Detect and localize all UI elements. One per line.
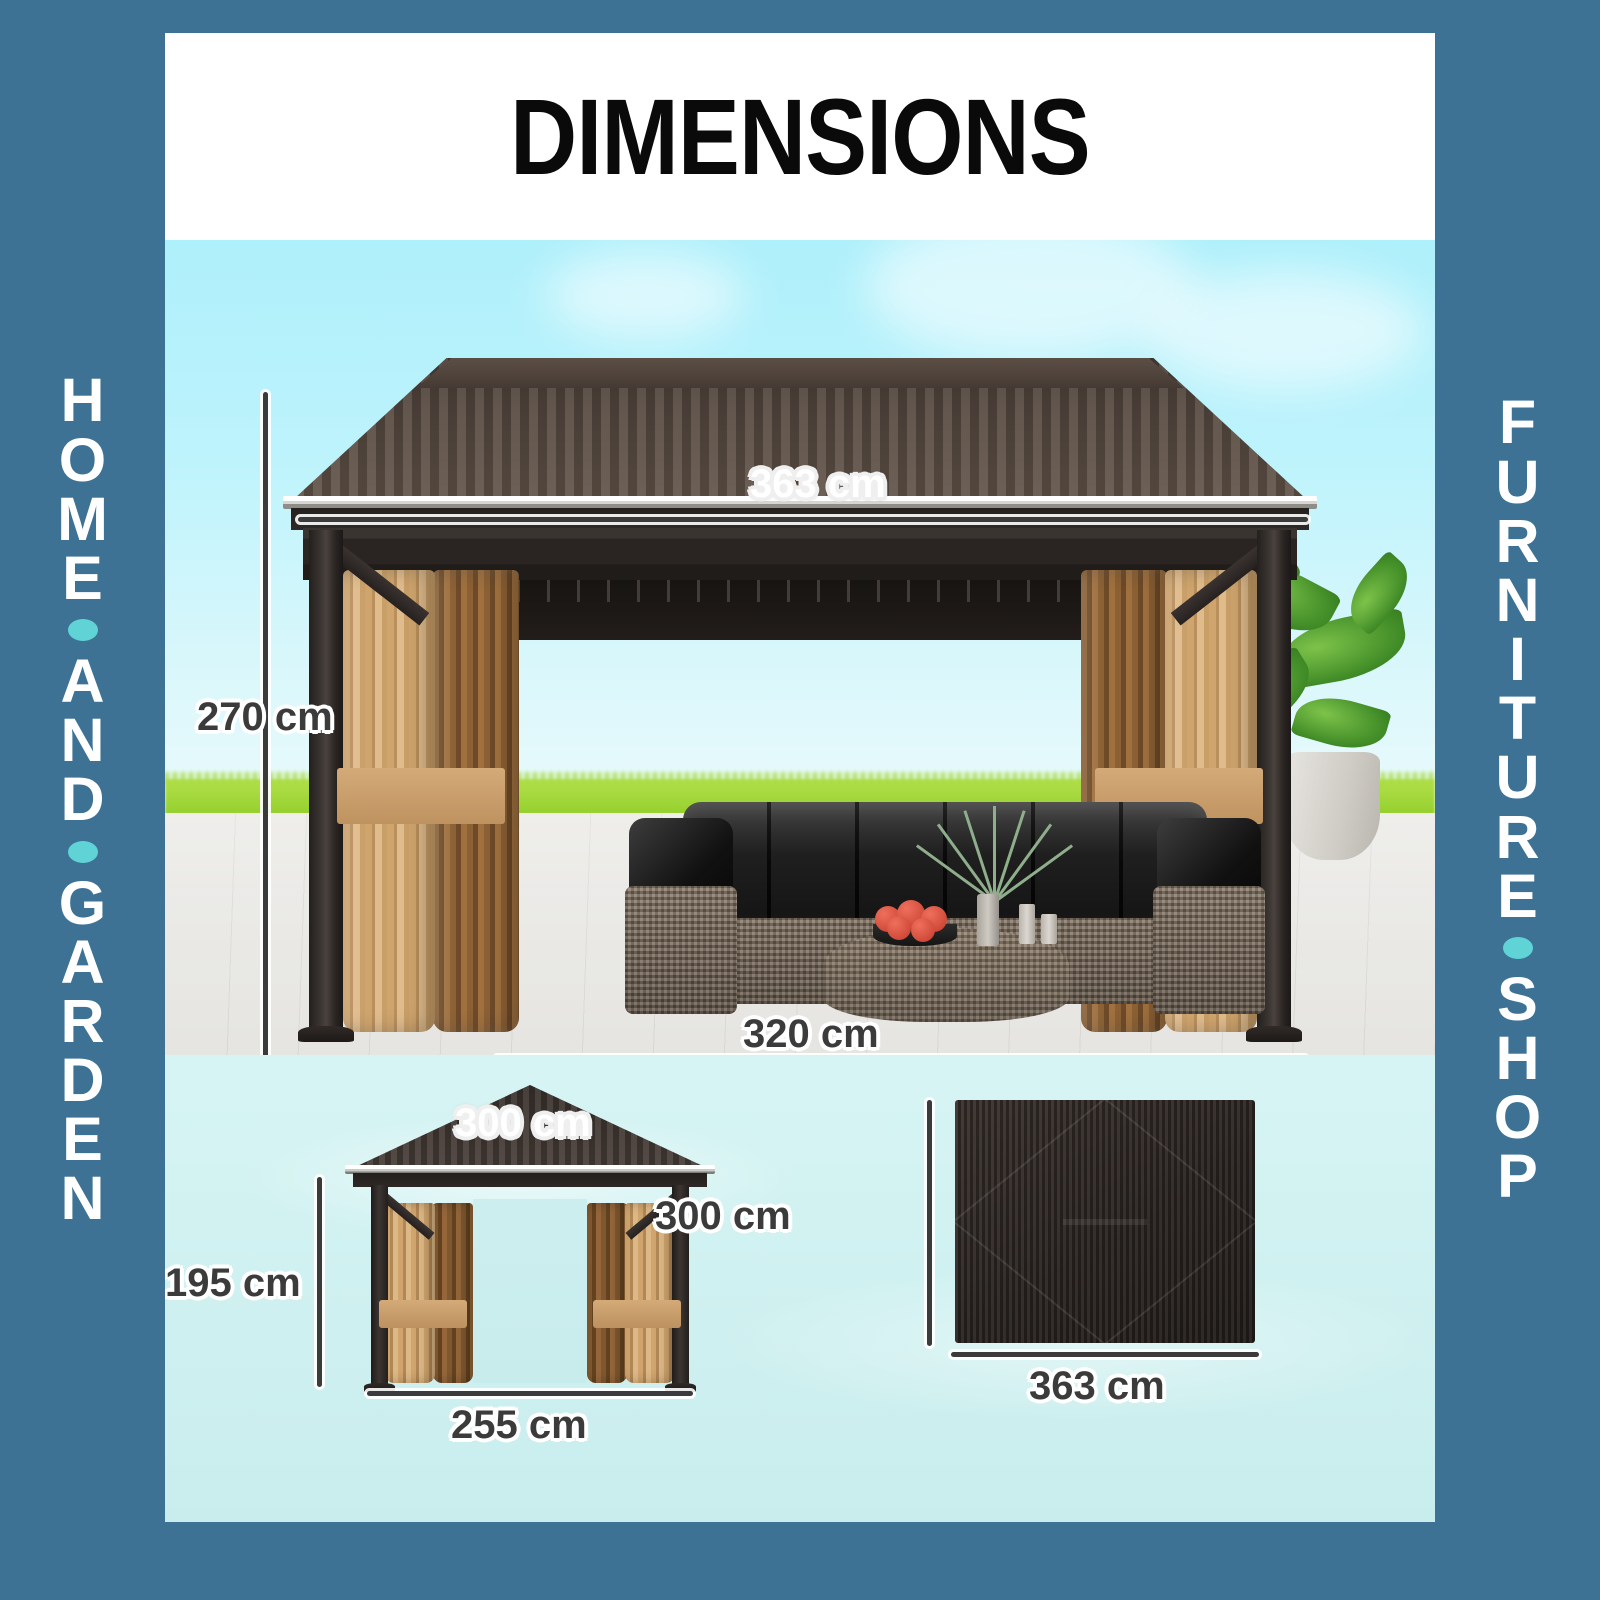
roof-width-dimension-line-2 <box>951 1352 1259 1357</box>
cloud-shape <box>865 240 1195 360</box>
side-roof-fascia <box>353 1173 707 1187</box>
rail-letter: R <box>1435 512 1600 571</box>
rail-letter: E <box>0 549 165 608</box>
roof-width-dimension-line <box>298 517 1308 522</box>
cloud-shape <box>545 250 745 340</box>
twig <box>993 806 996 902</box>
side-opening <box>473 1199 587 1383</box>
bullet-separator-icon <box>68 841 98 863</box>
sofa-armrest <box>625 886 737 1014</box>
rail-letter: T <box>1435 689 1600 748</box>
side-base-width-label: 255 cm <box>451 1403 587 1448</box>
rail-letter: O <box>1435 1088 1600 1147</box>
gazebo-roof-ridge <box>295 358 1305 388</box>
rattan-sofa-set <box>625 796 1265 1032</box>
roof-width-dimension-label: 363 cm <box>750 462 886 507</box>
roof-top-view-diagram: 300 cm 363 cm <box>955 1100 1255 1343</box>
rail-letter: O <box>0 431 165 490</box>
rail-letter: P <box>1435 1147 1600 1206</box>
candle-holder <box>1019 904 1035 944</box>
rail-letter: M <box>0 490 165 549</box>
side-height-label: 195 cm <box>165 1261 301 1306</box>
rail-letter: R <box>1435 808 1600 867</box>
roof-ridge-line <box>1063 1219 1147 1225</box>
rail-letter: D <box>0 770 165 829</box>
rail-letter: N <box>0 1169 165 1228</box>
bullet-separator-icon <box>68 619 98 641</box>
side-curtain-tieback <box>379 1300 467 1328</box>
height-dimension-label: 270 cm <box>197 695 333 740</box>
side-curtain-tieback <box>593 1300 681 1328</box>
side-roof-width-label: 300 cm <box>455 1101 591 1146</box>
rail-letter: E <box>1435 867 1600 926</box>
curtain-rod-hooks <box>495 580 1115 602</box>
content-card: DIMENSIONS <box>165 33 1435 1522</box>
sofa-armrest <box>1153 886 1265 1014</box>
left-brand-rail: H O M E A N D G A R D E N <box>0 0 165 1600</box>
right-brand-rail: F U R N I T U R E S H O P <box>1435 0 1600 1600</box>
twig <box>937 823 996 902</box>
rail-letter: R <box>0 992 165 1051</box>
floor-width-dimension-label: 320 cm <box>743 1012 879 1055</box>
rail-letter: A <box>0 652 165 711</box>
table-plant-sprigs <box>925 794 1065 902</box>
side-curtain-panel <box>587 1203 627 1383</box>
rail-letter: H <box>0 371 165 430</box>
side-post <box>371 1185 388 1385</box>
rail-letter: N <box>0 711 165 770</box>
side-curtain-panel <box>433 1203 473 1383</box>
rail-letter: A <box>0 933 165 992</box>
rail-letter: G <box>0 874 165 933</box>
rail-letter: S <box>1435 970 1600 1029</box>
side-height-dimension-line <box>317 1177 322 1387</box>
rail-letter: U <box>1435 453 1600 512</box>
side-elevation-diagram: 300 cm 195 cm 255 cm <box>355 1085 705 1395</box>
roof-depth-dimension-line <box>927 1100 932 1346</box>
leaf-shape <box>1290 687 1392 758</box>
side-width-dimension-line <box>367 1391 693 1396</box>
flower-vase <box>977 894 999 946</box>
rail-letter: E <box>0 1110 165 1169</box>
fruit <box>911 918 935 942</box>
rail-letter: N <box>1435 571 1600 630</box>
roof-depth-label: 300 cm <box>655 1194 791 1239</box>
roof-width-label-2: 363 cm <box>1029 1364 1165 1409</box>
title-band: DIMENSIONS <box>165 33 1435 240</box>
twig <box>994 844 1073 903</box>
candle-holder <box>1041 914 1057 944</box>
hero-product-scene: 270 cm 363 cm 320 cm <box>165 240 1435 1055</box>
rail-letter: F <box>1435 393 1600 452</box>
rail-letter: H <box>1435 1029 1600 1088</box>
bullet-separator-icon <box>1503 937 1533 959</box>
fruit <box>887 916 911 940</box>
page-title: DIMENSIONS <box>510 74 1090 199</box>
rail-letter: D <box>0 1051 165 1110</box>
rail-letter: I <box>1435 630 1600 689</box>
rail-letter: U <box>1435 748 1600 807</box>
diagram-strip: 300 cm 195 cm 255 cm 300 cm 363 cm <box>165 1055 1435 1522</box>
curtain-tieback <box>337 768 505 824</box>
